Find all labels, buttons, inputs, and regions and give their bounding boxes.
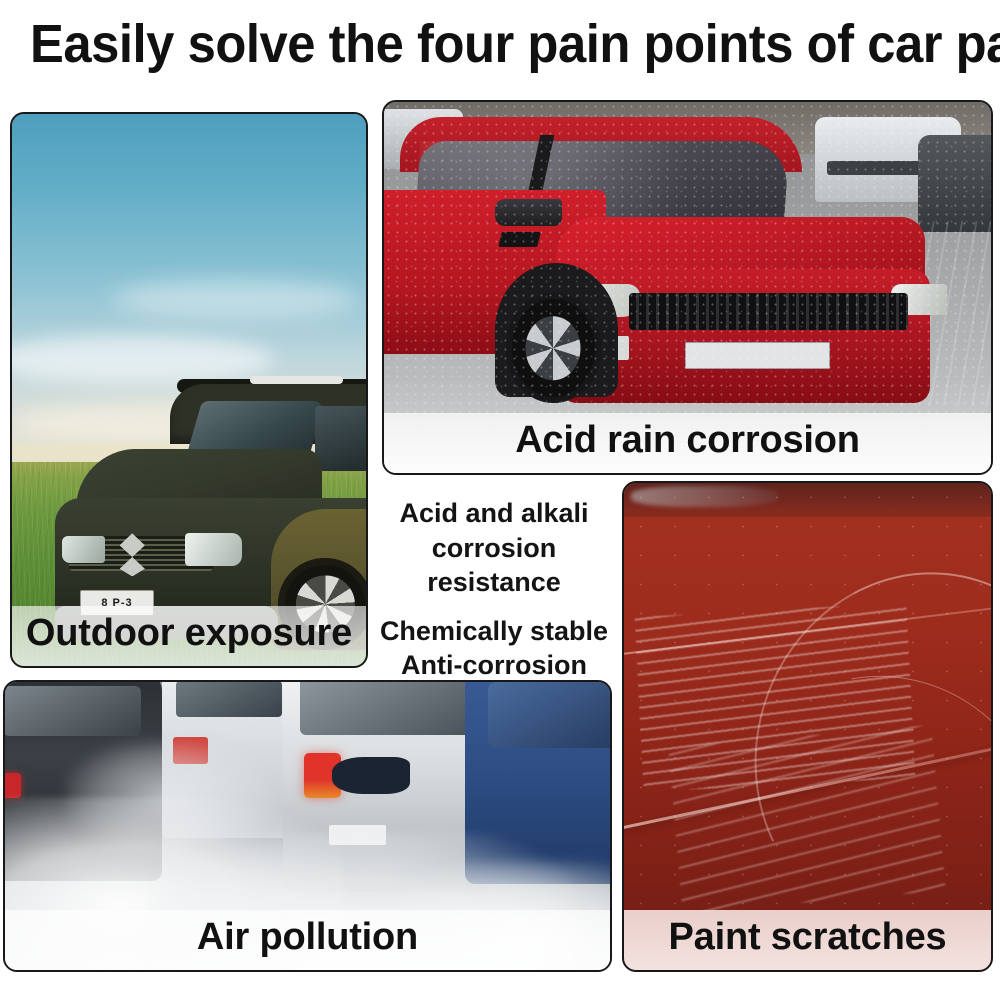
panel-caption-air-pollution: Air pollution (5, 910, 610, 970)
car-window (488, 682, 610, 748)
panel-paint-scratches: Paint scratches (622, 481, 993, 972)
panel-caption-outdoor-exposure: Outdoor exposure (12, 606, 366, 666)
center-benefit-text: Acid and alkali corrosion resistance Che… (376, 496, 612, 676)
car-taillight (5, 773, 21, 798)
benefit-line-3: Chemically stable (376, 614, 612, 649)
page-title: Easily solve the four pain points of car… (30, 16, 970, 73)
suv-headlight-left (62, 536, 105, 563)
panel-caption-acid-rain-corrosion: Acid rain corrosion (384, 413, 991, 473)
infographic-root: Easily solve the four pain points of car… (0, 0, 1000, 1000)
car-window (176, 682, 282, 717)
car-window (300, 682, 473, 735)
car-window (5, 686, 141, 736)
suv-headlight-right (185, 533, 243, 565)
panel-air-pollution: Air pollution (3, 680, 612, 972)
benefit-line-4: Anti-corrosion (376, 648, 612, 683)
panel-caption-paint-scratches: Paint scratches (624, 910, 991, 970)
outdoor-exposure-photo: 8 P-3 (12, 114, 366, 666)
paint-specks (624, 483, 991, 970)
panel-outdoor-exposure: 8 P-3 Outdoor exposure (10, 112, 368, 668)
car-side-mirror (332, 757, 411, 794)
panel-acid-rain-corrosion: Acid rain corrosion (382, 100, 993, 475)
cloud (111, 280, 359, 319)
benefit-line-2: corrosion resistance (376, 531, 612, 600)
roof-rail-highlight (250, 376, 344, 384)
suv-side-window (315, 406, 366, 471)
benefit-line-1: Acid and alkali (376, 496, 612, 531)
paint-scratches-photo (624, 483, 991, 970)
